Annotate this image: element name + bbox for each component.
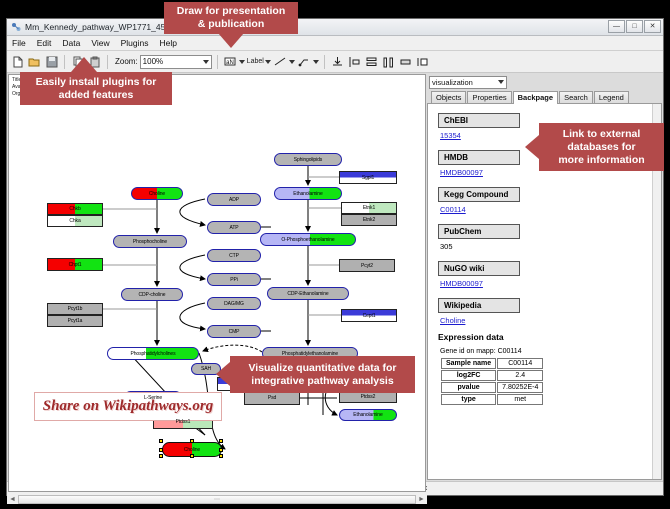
metabolite-node-cdp-ethanolamine[interactable]: CDP-Ethanolamine (267, 287, 349, 300)
node-label: Ethanolamine (353, 412, 382, 418)
selection-handle[interactable] (190, 439, 194, 443)
pathway-canvas-pane[interactable]: Title: Availa Organi (8, 74, 426, 492)
table-cell-value: met (497, 394, 543, 405)
line-icon[interactable] (273, 54, 288, 69)
callout-links-line3: more information (558, 154, 644, 167)
scrollbar-thumb[interactable]: ⋯ (18, 495, 416, 504)
node-label: SAH (201, 366, 211, 372)
callout-plugins-line1: Easily install plugins for (36, 76, 157, 89)
metabolite-node-choline-top[interactable]: Choline (131, 187, 183, 200)
side-panel-tabs: Objects Properties Backpage Search Legen… (427, 90, 662, 104)
callout-visualize: Visualize quantitative data for integrat… (230, 356, 415, 393)
node-label: Ptdss2 (361, 394, 376, 400)
table-cell-key: Sample name (441, 358, 496, 369)
callout-plugins-line2: added features (59, 89, 134, 102)
backpage-link-wikipedia[interactable]: Choline (440, 316, 653, 325)
svg-text:aN: aN (226, 60, 234, 66)
node-label: Sphingolipids (294, 157, 322, 163)
label-tool-text: Label (247, 58, 264, 65)
node-label: Pcyt1b (68, 306, 83, 312)
table-row: Sample nameC00114 (441, 358, 543, 369)
toolbar-separator (217, 55, 218, 69)
node-label: Choline (149, 191, 165, 197)
table-cell-key: type (441, 394, 496, 405)
chevron-down-icon[interactable] (313, 60, 319, 64)
zoom-combobox[interactable]: 100% (140, 55, 212, 69)
share-on-wikipathways-box: Share on Wikipathways.org (34, 392, 222, 421)
tab-legend[interactable]: Legend (594, 91, 629, 103)
backpage-heading-kegg-compound: Kegg Compound (438, 187, 520, 202)
node-label: Pcyt1a (68, 318, 83, 324)
open-folder-icon[interactable] (27, 54, 42, 69)
node-label: CMP (229, 329, 240, 335)
backpage-heading-wikipedia: Wikipedia (438, 298, 520, 313)
gene-node-pcyt1b[interactable]: Pcyt1b (47, 303, 103, 315)
node-label: ADP (229, 197, 239, 203)
node-label: Choline (184, 447, 200, 453)
toolbar: Zoom: 100% aN Label (7, 51, 663, 73)
title-bar: Mm_Kennedy_pathway_WP1771_45176.gpml — □… (7, 19, 663, 36)
metabolite-node-dag-mg[interactable]: DAG/MG (207, 297, 261, 310)
callout-links: Link to external databases for more info… (539, 123, 664, 171)
metabolite-node-o-phosphoethanolamine[interactable]: O-Phosphoethanolamine (260, 233, 356, 246)
metabolite-node-ppi[interactable]: PPi (207, 273, 261, 286)
callout-plugins-arrow (71, 57, 97, 72)
toolbar-separator (64, 55, 65, 69)
callout-plugins: Easily install plugins for added feature… (20, 72, 172, 105)
selection-handle[interactable] (190, 454, 194, 458)
chevron-down-icon (498, 80, 504, 84)
chevron-down-icon[interactable] (265, 60, 271, 64)
metabolite-node-phosphocholine[interactable]: Phosphocholine (113, 235, 187, 248)
maximize-button[interactable]: □ (626, 20, 643, 33)
tab-search[interactable]: Search (559, 91, 593, 103)
metabolite-node-phosphatidylcholines[interactable]: Phosphatidylcholines (107, 347, 199, 360)
expression-data-table: Sample nameC00114log2FC2.4pvalue7.80252E… (440, 357, 544, 406)
node-label: Chpt1 (69, 262, 82, 268)
node-label: Sgpl1 (362, 175, 374, 181)
label-tool[interactable]: Label (247, 58, 271, 65)
backpage-heading-chebi: ChEBI (438, 113, 520, 128)
metabolite-node-atp[interactable]: ATP (207, 221, 261, 234)
table-row: log2FC2.4 (441, 370, 543, 381)
node-label: Cept1 (363, 313, 376, 319)
interaction-icon[interactable] (297, 54, 312, 69)
same-width-icon[interactable] (398, 54, 413, 69)
table-cell-value: 2.4 (497, 370, 543, 381)
visualization-value: visualization (432, 78, 473, 87)
table-cell-value: 7.80252E-4 (497, 382, 543, 393)
node-label: Ptdss1 (176, 419, 191, 425)
callout-visualize-line2: integrative pathway analysis (251, 375, 393, 388)
backpage-heading-pubchem: PubChem (438, 224, 520, 239)
backpage-link-nugo-wiki[interactable]: HMDB00097 (440, 279, 653, 288)
metabolite-node-adp[interactable]: ADP (207, 193, 261, 206)
align-top-icon[interactable] (330, 54, 345, 69)
chevron-down-icon (203, 60, 209, 64)
node-label: CDP-Ethanolamine (287, 291, 328, 297)
menu-help[interactable]: Help (159, 38, 178, 48)
gene-node-chpt1[interactable]: Chpt1 (47, 258, 103, 271)
gene-node-chkb[interactable]: Chkb (47, 203, 103, 215)
node-label: DAG/MG (224, 301, 244, 307)
gene-node-psd[interactable]: Psd (244, 391, 300, 405)
node-label: CDP-choline (139, 292, 166, 298)
node-label: L-Serine (144, 395, 162, 401)
backpage-value-pubchem: 305 (440, 242, 653, 251)
metabolite-node-ctp[interactable]: CTP (207, 249, 261, 262)
table-cell-value: C00114 (497, 358, 543, 369)
datanode-icon[interactable]: aN (223, 54, 238, 69)
table-row: typemet (441, 394, 543, 405)
gene-id-line: Gene id on mapp: C00114 (440, 348, 653, 355)
selection-handle[interactable] (219, 448, 223, 452)
callout-links-arrow (525, 135, 539, 159)
metabolite-node-sphingolipids[interactable]: Sphingolipids (274, 153, 342, 166)
selection-handle[interactable] (159, 439, 163, 443)
callout-draw-line1: Draw for presentation (177, 5, 286, 18)
node-label: PPi (230, 277, 237, 283)
minimize-button[interactable]: — (608, 20, 625, 33)
selection-handle[interactable] (219, 454, 223, 458)
node-label: Psd (268, 395, 276, 401)
interaction-tool[interactable] (297, 54, 319, 69)
gene-node-sgpl1[interactable]: Sgpl1 (339, 171, 397, 184)
metabolite-node-cmp[interactable]: CMP (207, 325, 261, 338)
gene-node-etnk1[interactable]: Etnk1 (341, 202, 397, 214)
tab-objects[interactable]: Objects (431, 91, 466, 103)
node-label: ATP (229, 225, 238, 231)
save-icon[interactable] (44, 54, 59, 69)
callout-draw-line2: & publication (198, 18, 265, 31)
tab-backpage[interactable]: Backpage (513, 91, 558, 104)
backpage-heading-nugo-wiki: NuGO wiki (438, 261, 520, 276)
menu-plugins[interactable]: Plugins (120, 38, 150, 48)
bring-to-front-icon[interactable] (415, 54, 430, 69)
pathway-canvas[interactable]: Title: Availa Organi (9, 75, 425, 491)
gene-node-chka[interactable]: Chka (47, 215, 103, 227)
gene-node-cept1[interactable]: Cept1 (341, 309, 397, 322)
callout-draw: Draw for presentation & publication (164, 2, 298, 34)
toolbar-separator (107, 55, 108, 69)
callout-draw-arrow (218, 33, 244, 48)
window-controls: — □ ✕ (608, 20, 661, 33)
callout-visualize-line1: Visualize quantitative data for (248, 362, 396, 375)
zoom-value: 100% (143, 57, 163, 66)
selection-handle[interactable] (219, 439, 223, 443)
node-label: Pcyt2 (361, 263, 373, 269)
table-row: pvalue7.80252E-4 (441, 382, 543, 393)
gene-node-pcyt1a[interactable]: Pcyt1a (47, 315, 103, 327)
backpage-link-kegg-compound[interactable]: C00114 (440, 205, 653, 214)
canvas-horizontal-scrollbar[interactable]: ◄ ⋯ ► (7, 493, 427, 504)
chevron-down-icon[interactable] (289, 60, 295, 64)
selection-handle[interactable] (159, 454, 163, 458)
line-tool[interactable] (273, 54, 295, 69)
node-label: CTP (229, 253, 239, 259)
metabolite-node-cdp-choline[interactable]: CDP-choline (121, 288, 183, 301)
callout-visualize-arrow (216, 362, 230, 386)
expression-data-title: Expression data (438, 332, 653, 342)
node-label: Chka (69, 218, 80, 224)
datanode-tool[interactable]: aN (223, 54, 245, 69)
menu-file[interactable]: File (11, 38, 27, 48)
node-label: Ethanolamine (293, 191, 322, 197)
callout-links-line1: Link to external (563, 128, 641, 141)
distribute-vertical-icon[interactable] (364, 54, 379, 69)
pathvisio-app-icon (11, 22, 21, 32)
table-cell-key: pvalue (441, 382, 496, 393)
distribute-horizontal-icon[interactable] (381, 54, 396, 69)
zoom-label: Zoom: (115, 57, 138, 66)
chevron-down-icon[interactable] (239, 60, 245, 64)
menu-data[interactable]: Data (61, 38, 81, 48)
gene-node-etnk2[interactable]: Etnk2 (341, 214, 397, 226)
metabolite-node-ethanolamine-top[interactable]: Ethanolamine (274, 187, 342, 200)
menu-edit[interactable]: Edit (36, 38, 53, 48)
node-label: Chkb (69, 206, 80, 212)
node-label: Etnk2 (363, 217, 375, 223)
node-label: Etnk1 (363, 205, 375, 211)
align-left-icon[interactable] (347, 54, 362, 69)
tab-properties[interactable]: Properties (467, 91, 511, 103)
node-label: O-Phosphoethanolamine (281, 237, 334, 243)
scroll-right-icon[interactable]: ► (416, 494, 427, 505)
visualization-combobox[interactable]: visualization (429, 76, 507, 89)
node-label: Phosphatidylcholines (131, 351, 176, 357)
menu-view[interactable]: View (90, 38, 110, 48)
menu-bar: File Edit Data View Plugins Help (7, 36, 663, 51)
callout-links-line2: databases for (567, 141, 635, 154)
visualization-combo-row: visualization (427, 74, 662, 90)
gene-node-pcyt2[interactable]: Pcyt2 (339, 259, 395, 272)
selection-handle[interactable] (159, 448, 163, 452)
toolbar-separator (324, 55, 325, 69)
new-file-icon[interactable] (10, 54, 25, 69)
close-button[interactable]: ✕ (644, 20, 661, 33)
node-label: Phosphocholine (133, 239, 167, 245)
scrollbar-track[interactable]: ⋯ (18, 495, 416, 504)
metabolite-node-ethanolamine-right[interactable]: Ethanolamine (339, 409, 397, 421)
backpage-heading-hmdb: HMDB (438, 150, 520, 165)
table-cell-key: log2FC (441, 370, 496, 381)
scroll-left-icon[interactable]: ◄ (7, 494, 18, 505)
